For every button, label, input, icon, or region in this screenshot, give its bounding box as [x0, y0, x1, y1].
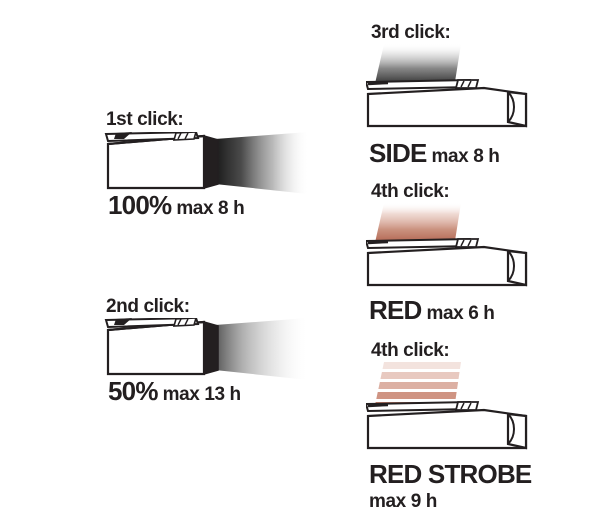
flashlight-switch: [456, 80, 478, 88]
flashlight-forward-beam-100: [98, 132, 308, 194]
mode-panel-fourth-click-strobe: 4th click:: [371, 341, 449, 360]
flashlight-body: [368, 247, 526, 285]
mode-name-fourth-red: RED: [369, 295, 422, 325]
mode-panel-second-click: 2nd click:: [106, 297, 190, 316]
light-beam-cone: [215, 318, 308, 380]
mode-caption-fourth-click-red: REDmax 6 h: [369, 297, 494, 323]
mode-duration-first: max 8 h: [176, 198, 244, 219]
mode-caption-line: REDmax 6 h: [369, 297, 494, 323]
click-label-first: 1st click:: [106, 110, 183, 129]
flashlight-body: [368, 410, 526, 448]
mode-caption-first-click: 100%max 8 h: [108, 192, 244, 218]
flashlight-switch: [174, 132, 196, 140]
mode-panel-third-click: 3rd click:: [371, 23, 450, 42]
mode-name-first: 100%: [108, 190, 171, 220]
flashlight-side-beam-red-strobe: [366, 362, 581, 457]
flashlight-lens-face: [204, 136, 218, 188]
mode-duration-fourth-strobe: max 9 h: [369, 492, 531, 511]
flashlight-switch: [456, 239, 478, 247]
click-label-fourth-strobe: 4th click:: [371, 341, 449, 360]
flashlight-body: [368, 88, 526, 126]
mode-caption-line: 50%max 13 h: [108, 378, 241, 404]
click-label-fourth-red: 4th click:: [371, 182, 449, 201]
flashlight-switch: [456, 402, 478, 410]
flashlight-side-beam-white: [366, 44, 581, 134]
mode-duration-fourth-red: max 6 h: [427, 303, 495, 324]
mode-caption-fourth-click-strobe: RED STROBE max 9 h: [369, 461, 531, 511]
mode-caption-third-click: SIDEmax 8 h: [369, 140, 499, 166]
mode-name-third: SIDE: [369, 138, 426, 168]
flashlight-switch: [174, 318, 196, 326]
mode-panel-fourth-click-red: 4th click:: [371, 182, 449, 201]
light-beam-cone: [215, 132, 308, 194]
flashlight-clip-hook: [368, 83, 388, 84]
flashlight-forward-beam-50: [98, 318, 308, 380]
mode-duration-second: max 13 h: [163, 384, 241, 405]
mode-caption-line: RED STROBE max 9 h: [369, 461, 531, 511]
flashlight-side-beam-red: [366, 203, 581, 293]
click-label-third: 3rd click:: [371, 23, 450, 42]
mode-name-fourth-strobe: RED STROBE: [369, 459, 531, 489]
flashlight-clip-hook: [368, 242, 388, 243]
flashlight-lens-face: [204, 322, 218, 374]
mode-name-second: 50%: [108, 376, 158, 406]
click-label-second: 2nd click:: [106, 297, 190, 316]
mode-caption-line: SIDEmax 8 h: [369, 140, 499, 166]
mode-caption-second-click: 50%max 13 h: [108, 378, 241, 404]
flashlight-clip-hook: [368, 405, 388, 406]
mode-panel-first-click: 1st click:: [106, 110, 183, 129]
mode-duration-third: max 8 h: [431, 146, 499, 167]
mode-caption-line: 100%max 8 h: [108, 192, 244, 218]
